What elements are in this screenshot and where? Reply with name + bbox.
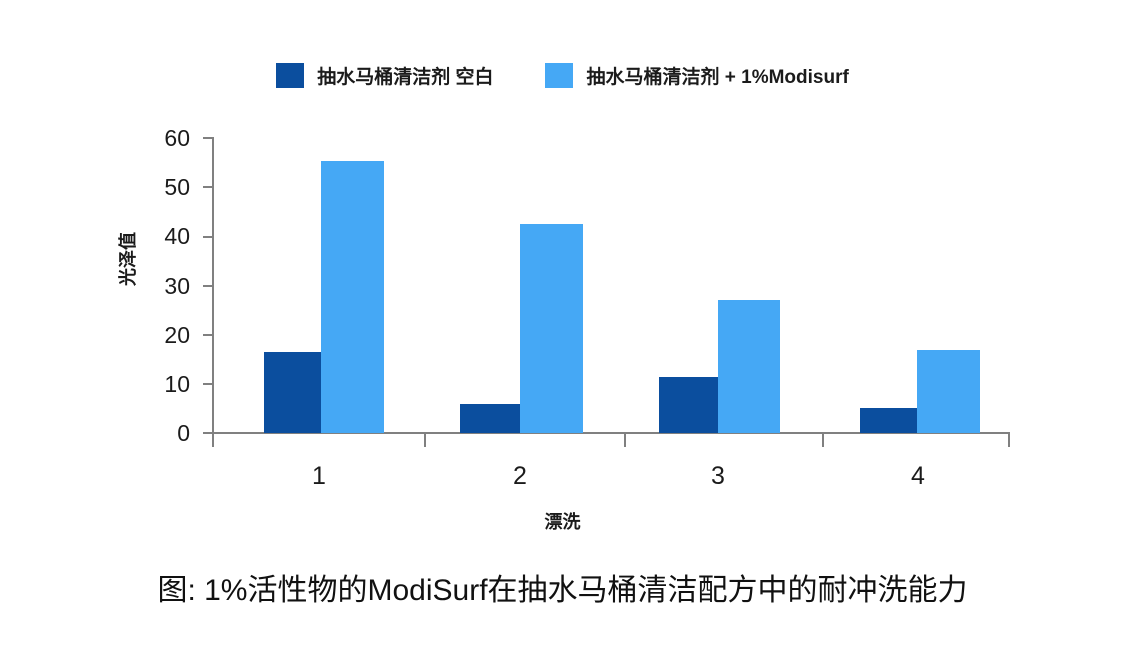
x-tick-mark-2 — [624, 434, 626, 447]
x-tick-label-3: 3 — [688, 462, 748, 491]
figure-caption: 图: 1%活性物的ModiSurf在抽水马桶清洁配方中的耐冲洗能力 — [0, 565, 1125, 609]
x-tick-mark-1 — [424, 434, 426, 447]
bar-modisurf-3 — [718, 300, 780, 433]
x-tick-label-4: 4 — [888, 462, 948, 491]
x-tick-mark-4 — [1008, 434, 1010, 447]
x-axis-title: 漂洗 — [0, 508, 1125, 534]
x-tick-mark-3 — [822, 434, 824, 447]
bar-blank-4 — [860, 408, 917, 433]
x-tick-label-2: 2 — [490, 462, 550, 491]
bars-layer — [0, 0, 1125, 433]
bar-blank-2 — [460, 404, 520, 433]
bar-blank-3 — [659, 377, 718, 433]
x-tick-label-1: 1 — [289, 462, 349, 491]
plot-area: 光泽值 60 50 40 30 20 10 0 — [0, 0, 1125, 560]
bar-modisurf-2 — [520, 224, 583, 433]
bar-blank-1 — [264, 352, 321, 433]
chart-figure: 抽水马桶清洁剂 空白 抽水马桶清洁剂 + 1%Modisurf 光泽值 60 5… — [0, 0, 1125, 656]
bar-modisurf-4 — [917, 350, 980, 433]
bar-modisurf-1 — [321, 161, 384, 433]
x-tick-mark-start — [212, 434, 214, 447]
